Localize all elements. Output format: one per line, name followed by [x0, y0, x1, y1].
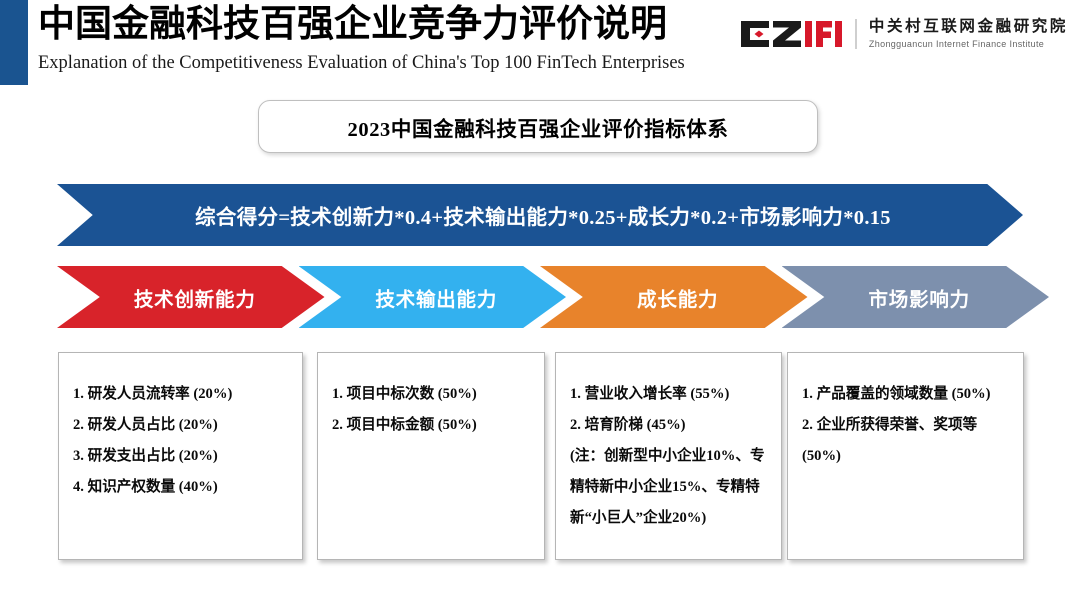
page-subtitle: Explanation of the Competitiveness Evalu…: [38, 51, 758, 75]
indicator-system-title-box: 2023中国金融科技百强企业评价指标体系: [258, 100, 818, 153]
dimension-label: 技术创新能力: [126, 283, 256, 312]
dimension-chevron-market-influence: 市场影响力: [782, 266, 1050, 328]
indicator-card-market-influence: 1. 产品覆盖的领域数量 (50%) 2. 企业所获得荣誉、奖项等 (50%): [787, 352, 1024, 560]
czifi-logo-icon: [739, 19, 843, 49]
dimension-label: 成长能力: [629, 283, 718, 312]
indicator-item: 1. 项目中标次数 (50%): [332, 379, 532, 410]
indicator-card-technical-output: 1. 项目中标次数 (50%) 2. 项目中标金额 (50%): [317, 352, 545, 560]
indicator-item: 4. 知识产权数量 (40%): [73, 472, 290, 503]
indicator-card-technical-innovation: 1. 研发人员流转率 (20%) 2. 研发人员占比 (20%) 3. 研发支出…: [58, 352, 303, 560]
page-header: 中国金融科技百强企业竞争力评价说明 Explanation of the Com…: [0, 0, 1080, 88]
header-accent-bar: [0, 0, 28, 85]
logo-name-en: Zhongguancun Internet Finance Institute: [869, 38, 1068, 50]
dimension-label: 技术输出能力: [367, 283, 497, 312]
indicator-note: (注：创新型中小企业10%、专精特新中小企业15%、专精特新“小巨人”企业20%…: [570, 441, 769, 534]
indicator-item: 1. 营业收入增长率 (55%): [570, 379, 769, 410]
logo-name-cn: 中关村互联网金融研究院: [869, 18, 1068, 36]
dimension-chevron-technical-innovation: 技术创新能力: [57, 266, 325, 328]
title-block: 中国金融科技百强企业竞争力评价说明 Explanation of the Com…: [38, 2, 758, 75]
indicator-item: 1. 产品覆盖的领域数量 (50%): [802, 379, 1011, 410]
indicator-item: 3. 研发支出占比 (20%): [73, 441, 290, 472]
dimension-chevron-row: 技术创新能力 技术输出能力 成长能力 市场影响力: [57, 266, 1023, 328]
indicator-item: 1. 研发人员流转率 (20%): [73, 379, 290, 410]
logo-text-block: 中关村互联网金融研究院 Zhongguancun Internet Financ…: [869, 18, 1068, 50]
indicator-system-title: 2023中国金融科技百强企业评价指标体系: [348, 112, 729, 142]
composite-score-formula-banner: 综合得分=技术创新力*0.4+技术输出能力*0.25+成长力*0.2+市场影响力…: [57, 184, 1023, 246]
indicator-item: 2. 项目中标金额 (50%): [332, 410, 532, 441]
composite-score-formula-text: 综合得分=技术创新力*0.4+技术输出能力*0.25+成长力*0.2+市场影响力…: [189, 200, 891, 230]
page-title: 中国金融科技百强企业竞争力评价说明: [38, 2, 758, 48]
dimension-label: 市场影响力: [860, 283, 970, 312]
indicator-card-growth: 1. 营业收入增长率 (55%) 2. 培育阶梯 (45%) (注：创新型中小企…: [555, 352, 782, 560]
indicator-item: 2. 企业所获得荣誉、奖项等 (50%): [802, 410, 1011, 472]
indicator-item: 2. 培育阶梯 (45%): [570, 410, 769, 441]
indicator-item: 2. 研发人员占比 (20%): [73, 410, 290, 441]
organization-logo: 中关村互联网金融研究院 Zhongguancun Internet Financ…: [739, 12, 1068, 56]
dimension-chevron-growth: 成长能力: [540, 266, 808, 328]
logo-divider: [855, 19, 857, 49]
dimension-chevron-technical-output: 技术输出能力: [299, 266, 567, 328]
